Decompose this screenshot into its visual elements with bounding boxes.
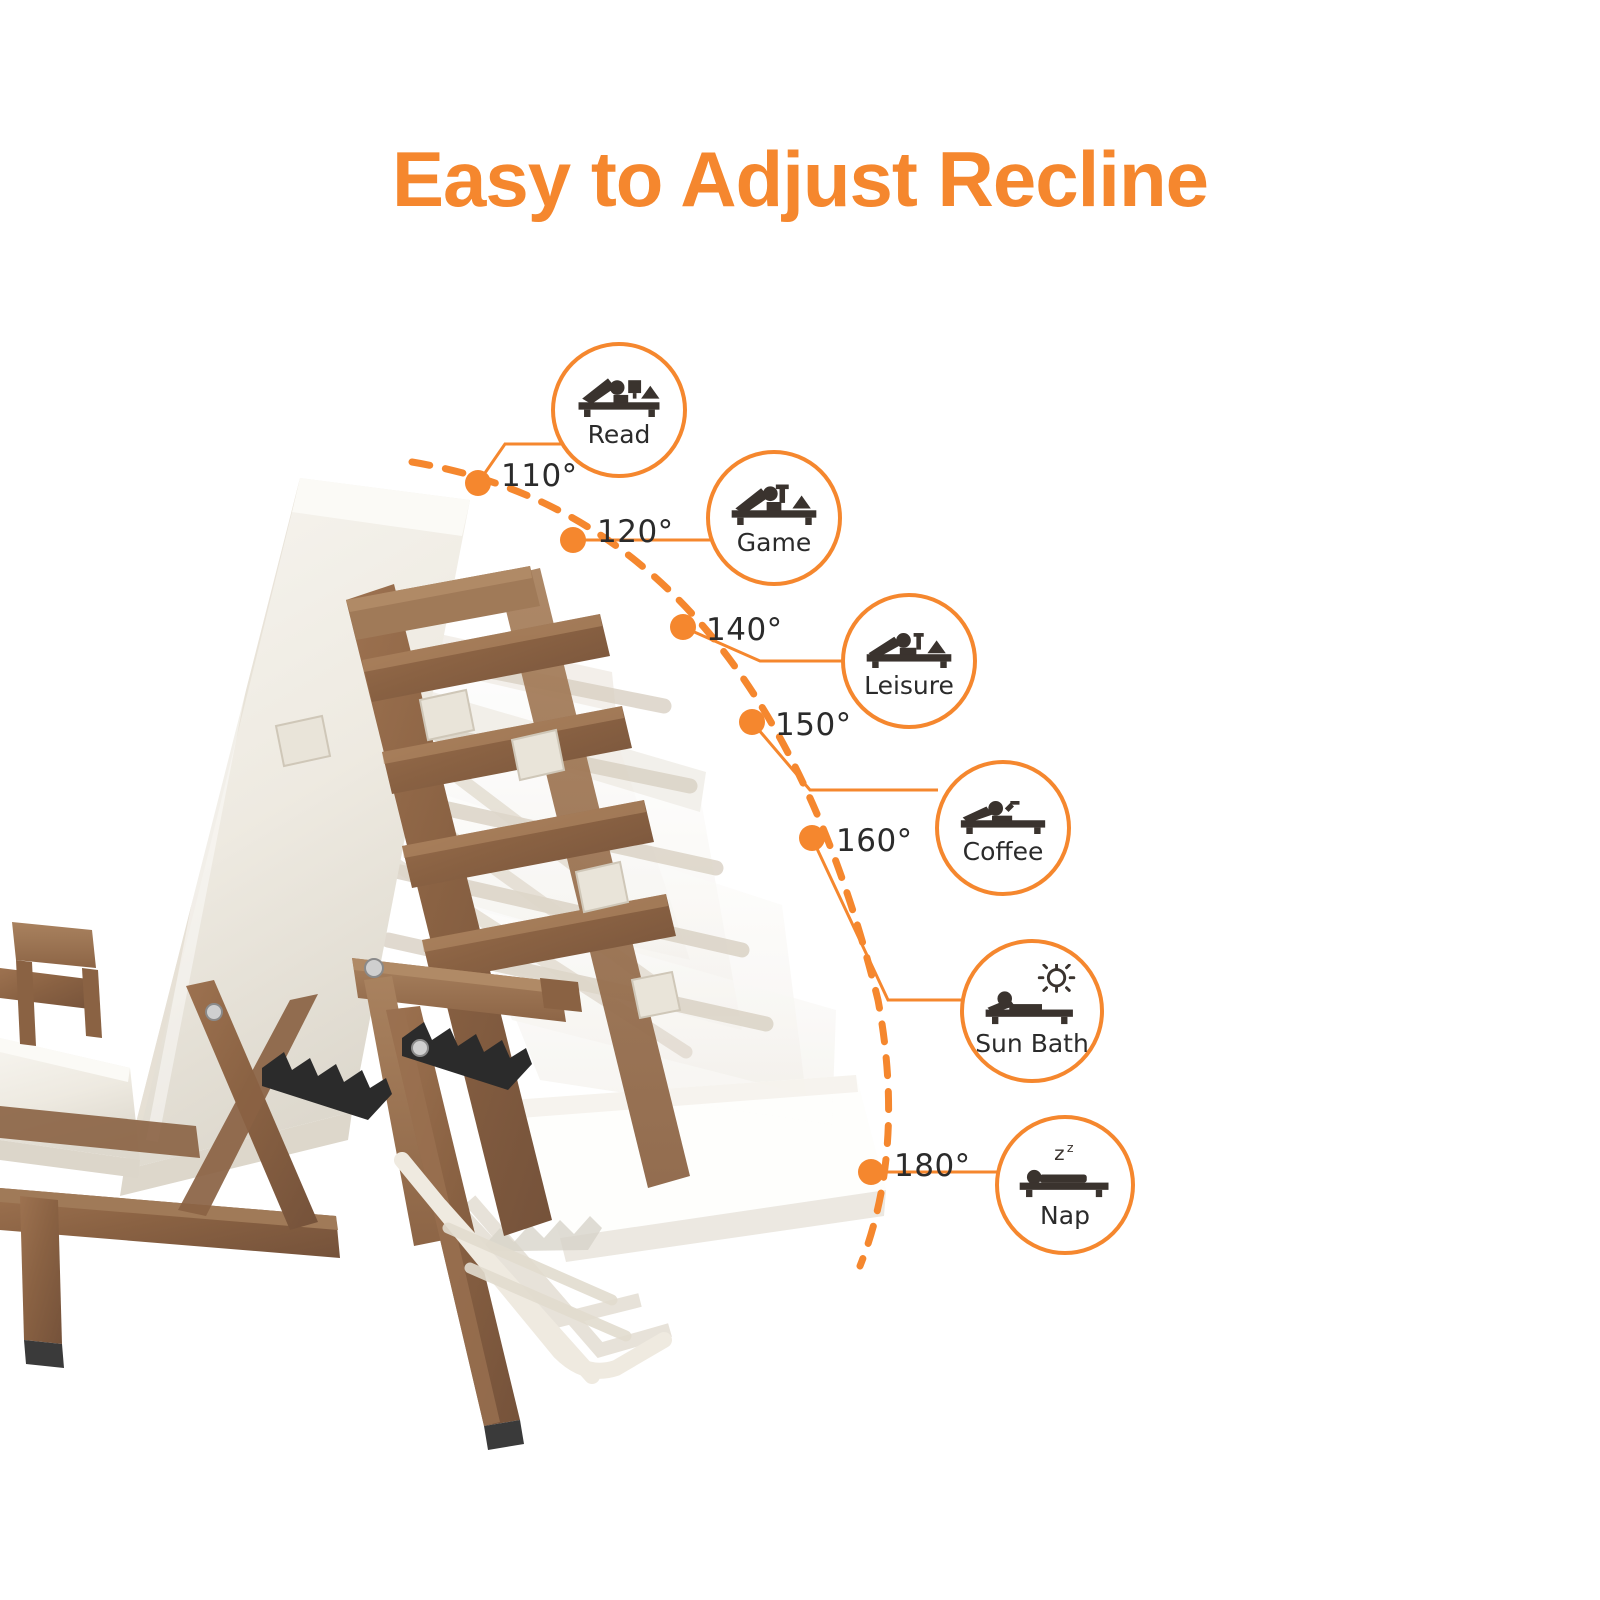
angle-label-150: 150° xyxy=(775,707,852,743)
badge-label: Game xyxy=(737,528,811,557)
recline-arc-and-leaders xyxy=(0,0,1600,1600)
badge-label: Coffee xyxy=(963,837,1044,866)
badge-label: Nap xyxy=(1040,1201,1090,1230)
badge-read[interactable]: Read xyxy=(551,342,687,478)
person-sunbathing-with-sun-icon xyxy=(982,964,1082,1026)
recline-arc-dashed xyxy=(412,462,889,1266)
angle-label-110: 110° xyxy=(501,458,578,494)
badge-label: Sun Bath xyxy=(975,1029,1089,1058)
dot-120 xyxy=(560,527,586,553)
dot-140 xyxy=(670,614,696,640)
angle-label-160: 160° xyxy=(836,823,913,859)
person-drinking-coffee-on-lounger-icon xyxy=(957,790,1049,834)
person-reading-on-lounger-icon xyxy=(573,371,665,417)
person-relaxing-on-lounger-icon xyxy=(863,622,955,668)
angle-label-140: 140° xyxy=(706,612,783,648)
badge-game[interactable]: Game xyxy=(706,450,842,586)
badge-coffee[interactable]: Coffee xyxy=(935,760,1071,896)
badge-label: Read xyxy=(588,420,651,449)
dot-150 xyxy=(739,709,765,735)
dot-180 xyxy=(858,1159,884,1185)
person-gaming-on-lounger-icon xyxy=(728,479,820,525)
badge-label: Leisure xyxy=(864,671,954,700)
badge-leisure[interactable]: Leisure xyxy=(841,593,977,729)
angle-label-120: 120° xyxy=(597,514,674,550)
angle-label-180: 180° xyxy=(894,1148,971,1184)
infographic-canvas: Easy to Adjust Recline xyxy=(0,0,1600,1600)
svg-text:z: z xyxy=(1067,1140,1074,1155)
badge-nap[interactable]: z z Nap xyxy=(995,1115,1135,1255)
person-sleeping-zzz-icon: z z xyxy=(1017,1140,1113,1198)
svg-text:z: z xyxy=(1054,1142,1064,1165)
dot-110 xyxy=(465,470,491,496)
dot-160 xyxy=(799,825,825,851)
badge-sun-bath[interactable]: Sun Bath xyxy=(960,939,1104,1083)
